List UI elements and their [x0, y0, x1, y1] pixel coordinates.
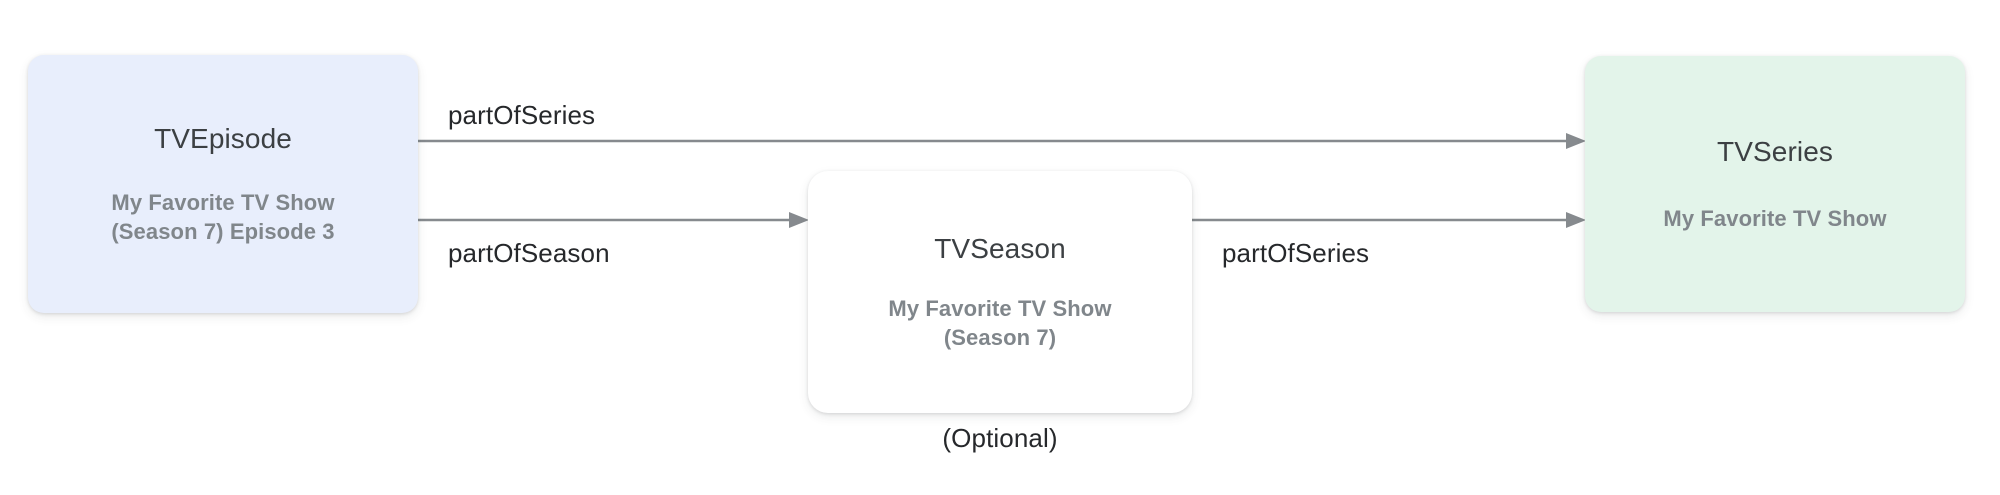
- edge-label-episode-to-season: partOfSeason: [448, 238, 610, 269]
- node-tvseason-subtitle: My Favorite TV Show (Season 7): [888, 295, 1111, 352]
- node-tvepisode-subtitle-line2: (Season 7) Episode 3: [111, 218, 334, 247]
- node-tvseries[interactable]: TVSeries My Favorite TV Show: [1585, 56, 1965, 312]
- edge-label-episode-to-series: partOfSeries: [448, 100, 595, 131]
- node-tvepisode[interactable]: TVEpisode My Favorite TV Show (Season 7)…: [28, 55, 418, 313]
- node-tvseason-subtitle-line1: My Favorite TV Show: [888, 295, 1111, 324]
- node-tvseries-subtitle: My Favorite TV Show: [1663, 205, 1886, 234]
- edge-season-to-series: [1192, 212, 1586, 228]
- node-tvepisode-subtitle-line1: My Favorite TV Show: [111, 189, 334, 218]
- node-tvseason-subtitle-line2: (Season 7): [888, 324, 1111, 353]
- node-tvseries-title: TVSeries: [1717, 135, 1833, 169]
- node-tvepisode-subtitle: My Favorite TV Show (Season 7) Episode 3: [111, 189, 334, 246]
- node-tvseason[interactable]: TVSeason My Favorite TV Show (Season 7): [808, 171, 1192, 413]
- node-tvseries-subtitle-line1: My Favorite TV Show: [1663, 205, 1886, 234]
- node-tvseason-optional-note: (Optional): [808, 423, 1192, 454]
- node-tvseason-title: TVSeason: [934, 232, 1066, 266]
- node-tvepisode-title: TVEpisode: [154, 122, 292, 156]
- edge-label-season-to-series: partOfSeries: [1222, 238, 1369, 269]
- edge-episode-to-season: [418, 212, 809, 228]
- edge-episode-to-series: [418, 133, 1586, 149]
- diagram-canvas: TVEpisode My Favorite TV Show (Season 7)…: [0, 0, 2000, 495]
